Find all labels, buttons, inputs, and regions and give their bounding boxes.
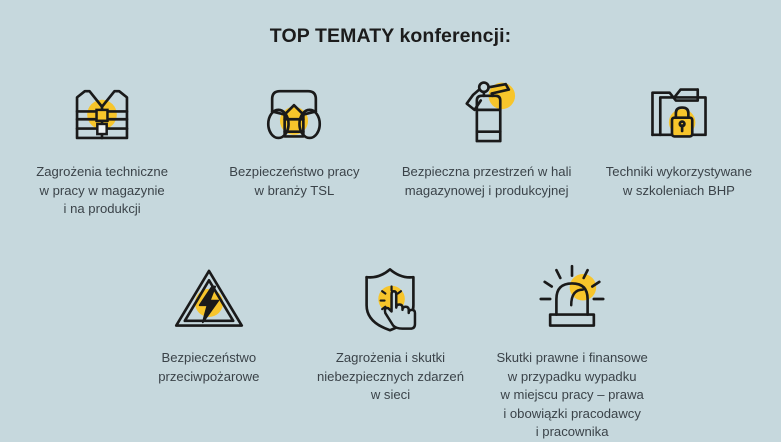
respirator-mask-icon <box>254 72 334 154</box>
topic-label: Bezpieczna przestrzeń w hali magazynowej… <box>402 163 572 200</box>
topic-card-tsl-safety[interactable]: Bezpieczeństwo pracy w branży TSL <box>198 72 390 219</box>
electrical-hazard-triangle-icon <box>169 258 249 340</box>
topic-label: Techniki wykorzystywane w szkoleniach BH… <box>606 163 752 200</box>
topic-label: Zagrożenia i skutki niebezpiecznych zdar… <box>317 349 464 405</box>
topics-row-top: Zagrożenia techniczne w pracy w magazyni… <box>0 72 781 219</box>
shield-click-icon <box>349 258 431 340</box>
topic-label: Bezpieczeństwo przeciwpożarowe <box>158 349 259 386</box>
topic-label: Skutki prawne i finansowe w przypadku wy… <box>496 349 647 442</box>
safety-vest-icon <box>63 72 141 154</box>
fire-extinguisher-icon <box>448 72 526 154</box>
topic-card-bhp-training-techniques[interactable]: Techniki wykorzystywane w szkoleniach BH… <box>583 72 775 219</box>
conference-topics-slide: TOP TEMATY konferencji: Zagro <box>0 0 781 442</box>
topic-card-cyber-threats[interactable]: Zagrożenia i skutki niebezpiecznych zdar… <box>300 258 482 442</box>
topics-row-bottom: Bezpieczeństwo przeciwpożarowe <box>0 258 781 442</box>
topic-card-technical-hazards[interactable]: Zagrożenia techniczne w pracy w magazyni… <box>6 72 198 219</box>
emergency-beacon-icon <box>529 258 615 340</box>
topic-card-safe-warehouse-space[interactable]: Bezpieczna przestrzeń w hali magazynowej… <box>391 72 583 219</box>
topic-label: Bezpieczeństwo pracy w branży TSL <box>229 163 359 200</box>
locked-folder-icon <box>640 72 718 154</box>
topic-label: Zagrożenia techniczne w pracy w magazyni… <box>36 163 168 219</box>
topic-card-legal-financial-consequences[interactable]: Skutki prawne i finansowe w przypadku wy… <box>481 258 663 442</box>
page-title: TOP TEMATY konferencji: <box>0 25 781 48</box>
topic-card-fire-safety[interactable]: Bezpieczeństwo przeciwpożarowe <box>118 258 300 442</box>
